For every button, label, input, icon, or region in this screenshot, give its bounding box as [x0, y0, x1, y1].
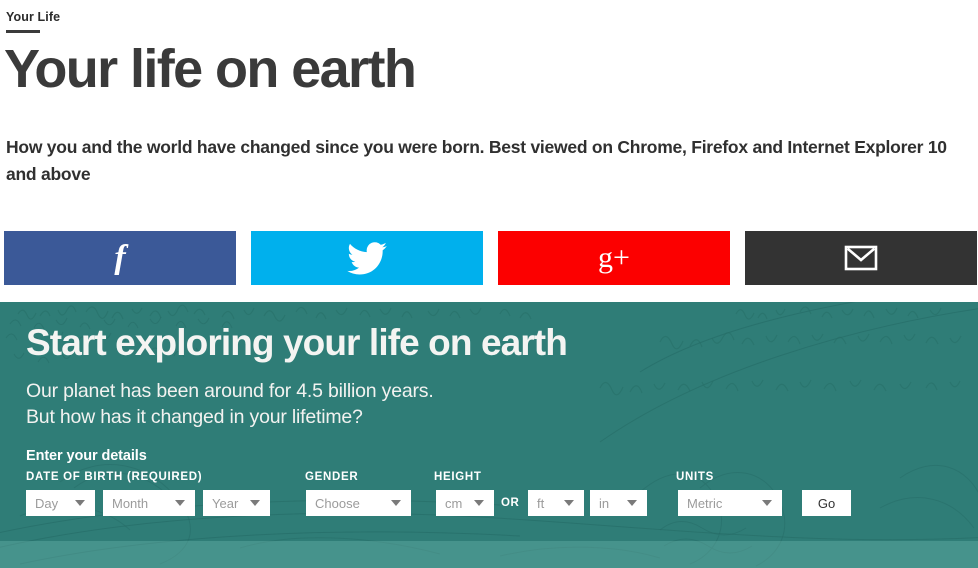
- hero-content: Start exploring your life on earth Our p…: [0, 302, 978, 464]
- share-googleplus-button[interactable]: g+: [498, 231, 730, 285]
- twitter-bird-icon: [347, 242, 387, 275]
- units-select-value: Metric: [678, 496, 762, 511]
- chevron-down-icon: [627, 500, 637, 506]
- chevron-down-icon: [75, 500, 85, 506]
- height-in-select[interactable]: in: [590, 490, 647, 516]
- hero-subtitle: Our planet has been around for 4.5 billi…: [26, 379, 978, 430]
- enter-details-heading: Enter your details: [26, 448, 978, 464]
- height-cm-select[interactable]: cm: [436, 490, 494, 516]
- breadcrumb-label[interactable]: Your Life: [6, 10, 60, 24]
- day-select[interactable]: Day: [26, 490, 95, 516]
- month-select-value: Month: [103, 496, 175, 511]
- units-select[interactable]: Metric: [678, 490, 782, 516]
- hero-lower-band: [0, 541, 978, 568]
- height-or-separator: OR: [501, 497, 519, 509]
- facebook-icon: f: [114, 241, 125, 275]
- label-gender: GENDER: [305, 471, 358, 483]
- page-standfirst: How you and the world have changed since…: [6, 134, 958, 188]
- height-ft-value: ft: [528, 496, 564, 511]
- chevron-down-icon: [391, 500, 401, 506]
- chevron-down-icon: [474, 500, 484, 506]
- social-share-bar: f g+: [4, 231, 978, 285]
- chevron-down-icon: [564, 500, 574, 506]
- hero-subtitle-line-2: But how has it changed in your lifetime?: [26, 405, 978, 430]
- height-in-value: in: [590, 496, 627, 511]
- year-select[interactable]: Year: [203, 490, 270, 516]
- go-button[interactable]: Go: [802, 490, 851, 516]
- share-email-button[interactable]: [745, 231, 977, 285]
- hero-subtitle-line-1: Our planet has been around for 4.5 billi…: [26, 379, 978, 404]
- month-select[interactable]: Month: [103, 490, 195, 516]
- label-height: HEIGHT: [434, 471, 482, 483]
- chevron-down-icon: [175, 500, 185, 506]
- year-select-value: Year: [203, 496, 250, 511]
- height-cm-value: cm: [436, 496, 474, 511]
- hero-section: Start exploring your life on earth Our p…: [0, 302, 978, 568]
- chevron-down-icon: [250, 500, 260, 506]
- share-facebook-button[interactable]: f: [4, 231, 236, 285]
- height-ft-select[interactable]: ft: [528, 490, 584, 516]
- breadcrumb[interactable]: Your Life: [0, 0, 978, 33]
- gender-select-value: Choose: [306, 496, 391, 511]
- gender-select[interactable]: Choose: [306, 490, 411, 516]
- day-select-value: Day: [26, 496, 75, 511]
- label-date-of-birth: DATE OF BIRTH (REQUIRED): [26, 471, 202, 483]
- label-units: UNITS: [676, 471, 714, 483]
- chevron-down-icon: [762, 500, 772, 506]
- google-plus-icon: g+: [598, 243, 630, 273]
- breadcrumb-underline: [6, 30, 40, 33]
- envelope-icon: [844, 245, 878, 271]
- share-twitter-button[interactable]: [251, 231, 483, 285]
- page-header: Your Life Your life on earth How you and…: [0, 0, 978, 188]
- page-title: Your life on earth: [4, 41, 978, 98]
- hero-title: Start exploring your life on earth: [26, 322, 978, 363]
